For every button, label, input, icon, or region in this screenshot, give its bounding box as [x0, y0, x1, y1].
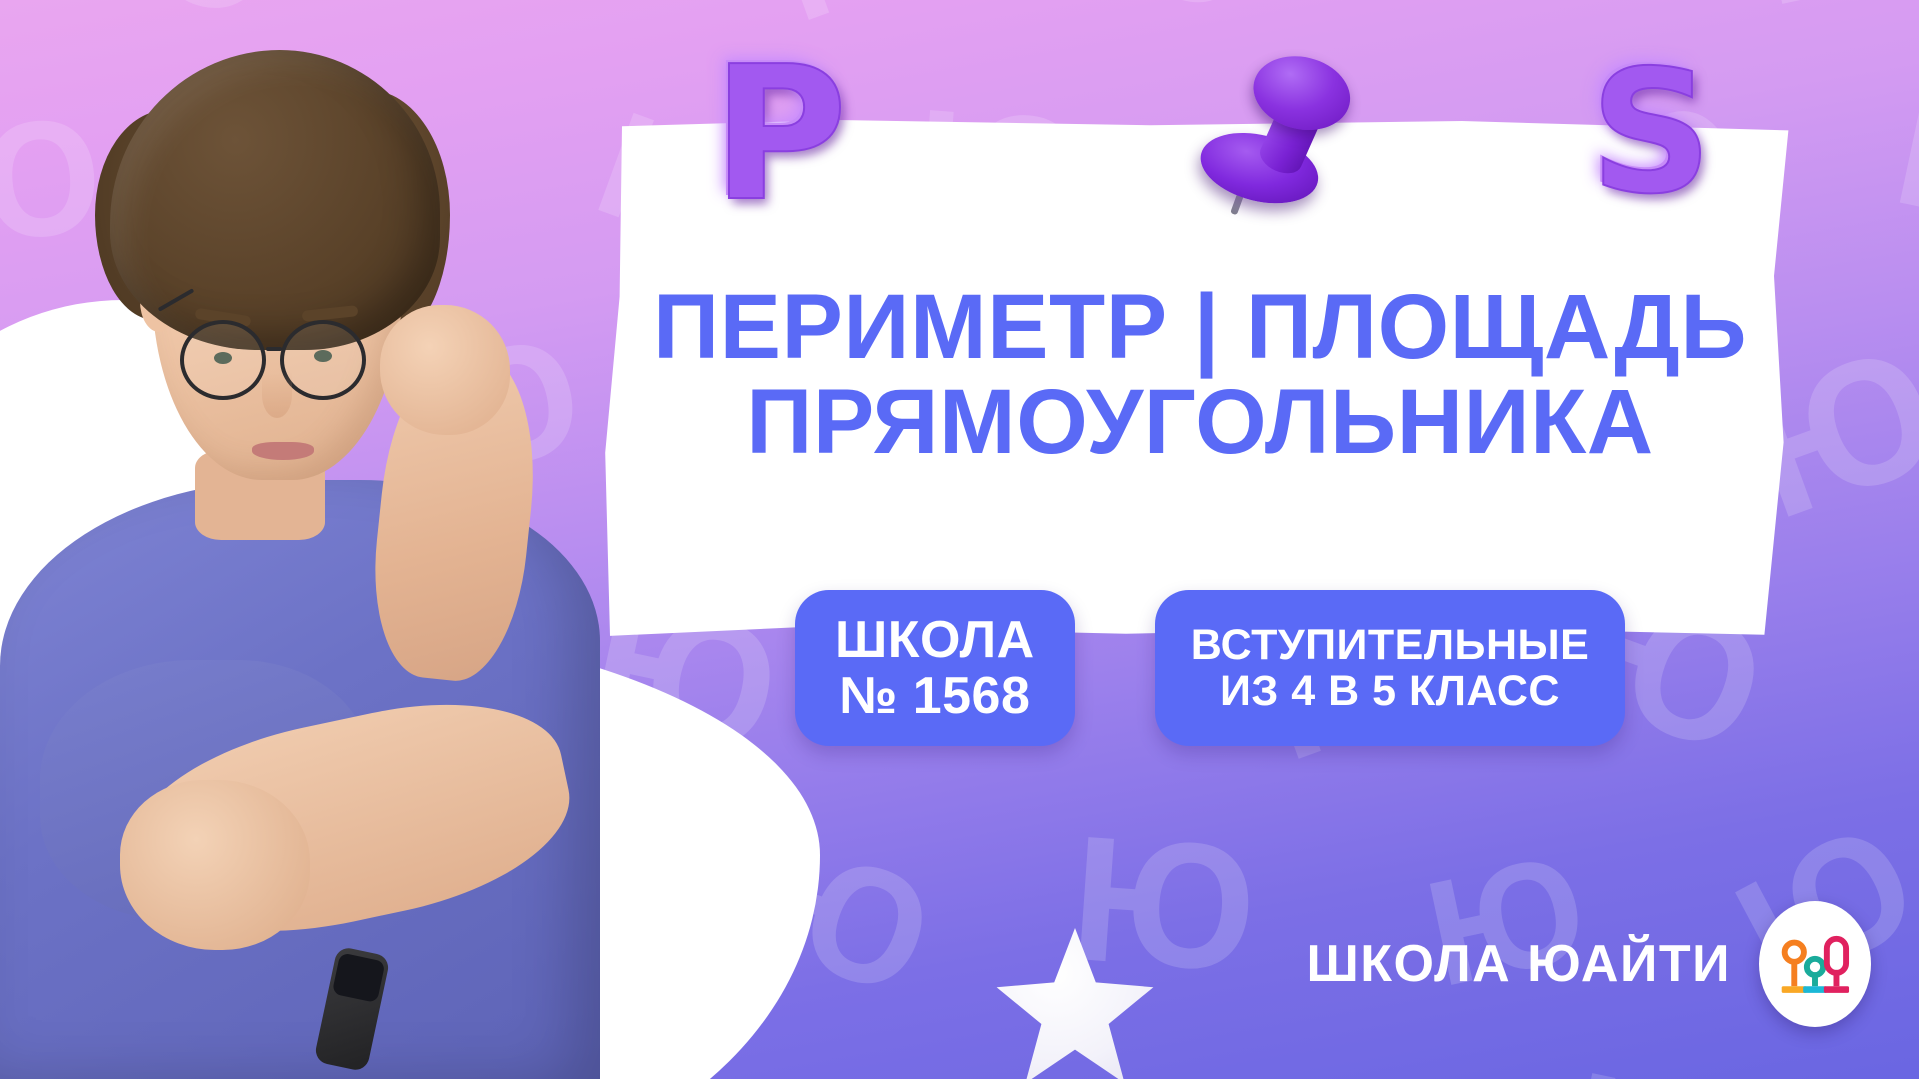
letter-yu-watermark-glyph: Ю	[0, 1051, 116, 1079]
glasses-temple	[158, 288, 195, 311]
exam-badge-line-1: ВСТУПИТЕЛЬНЫЕ	[1191, 622, 1590, 668]
neck	[195, 450, 325, 540]
school-number-badge-line-2: № 1568	[835, 668, 1035, 724]
headline-title: ПЕРИМЕТР | ПЛОЩАДЬ ПРЯМОУГОЛЬНИКА	[610, 280, 1790, 470]
logo-glyph-icon	[1778, 927, 1852, 1001]
exam-badge[interactable]: ВСТУПИТЕЛЬНЫЕ ИЗ 4 В 5 КЛАСС	[1155, 590, 1626, 746]
uity-school-logo	[1759, 901, 1871, 1027]
letter-yu-watermark-glyph: Ю	[94, 0, 287, 26]
letter-yu-watermark-glyph: Ю	[398, 326, 591, 489]
letter-yu-watermark-glyph: Ю	[83, 836, 276, 991]
letter-yu-watermark-glyph: Ю	[1236, 1067, 1429, 1079]
letter-yu-watermark-glyph: Ю	[1072, 0, 1276, 26]
tshirt-sleeve	[40, 660, 370, 920]
thumbnail-canvas: ЮЮЮЮЮЮЮЮЮЮЮЮЮЮЮЮЮЮЮЮЮЮЮЮЮЮЮЮЮЮЮЮЮЮЮЮЮЮЮЮ…	[0, 0, 1919, 1079]
letter-yu-watermark-glyph: Ю	[0, 110, 105, 253]
fist	[380, 305, 510, 435]
school-number-badge[interactable]: ШКОЛА № 1568	[795, 590, 1075, 746]
letter-yu-watermark-glyph: Ю	[0, 582, 88, 732]
star-icon	[995, 928, 1155, 1079]
hair-left	[95, 110, 215, 320]
letter-yu-watermark-glyph: Ю	[226, 70, 447, 267]
eyebrow-right	[302, 305, 359, 322]
hair-top	[110, 50, 440, 350]
forearm	[114, 676, 586, 963]
glasses-lens-left	[180, 320, 266, 400]
mouth	[252, 442, 314, 460]
tshirt	[0, 480, 600, 1079]
letter-yu-watermark-glyph: Ю	[1887, 81, 1919, 244]
eyebrow-left	[194, 308, 251, 328]
badge-row: ШКОЛА № 1568 ВСТУПИТЕЛЬНЫЕ ИЗ 4 В 5 КЛАС…	[795, 590, 1625, 746]
letter-yu-watermark-glyph: Ю	[1556, 1062, 1749, 1079]
letter-yu-watermark-glyph: Ю	[1749, 0, 1919, 14]
smartwatch-face	[332, 952, 386, 1003]
letter-yu-watermark-glyph: Ю	[1398, 0, 1591, 1]
letter-yu-watermark-glyph: Ю	[1067, 827, 1260, 982]
brand-footer: ШКОЛА ЮАЙТИ	[1306, 901, 1871, 1027]
white-blob-lower-left	[0, 620, 820, 1079]
raised-arm	[363, 343, 547, 687]
hand	[120, 780, 310, 950]
hair-right	[310, 90, 450, 340]
letter-yu-watermark-glyph: Ю	[761, 0, 947, 31]
letter-yu-watermark-glyph: Ю	[430, 846, 616, 1012]
eye-left	[214, 352, 232, 364]
eye-right	[314, 350, 332, 362]
headline-line-2: ПРЯМОУГОЛЬНИКА	[610, 375, 1790, 470]
face	[152, 170, 402, 480]
school-number-badge-line-1: ШКОЛА	[835, 612, 1035, 668]
pushpin-head	[1246, 46, 1359, 140]
letter-yu-watermark-glyph: Ю	[259, 592, 470, 787]
letter-yu-watermark-glyph: Ю	[414, 0, 607, 10]
smartwatch	[313, 946, 390, 1073]
white-blob-upper-left	[0, 300, 300, 730]
exam-badge-line-2: ИЗ 4 В 5 КЛАСС	[1191, 668, 1590, 714]
ear	[140, 270, 178, 332]
brand-name: ШКОЛА ЮАЙТИ	[1306, 934, 1731, 994]
glasses-bridge	[266, 347, 282, 351]
letter-yu-watermark-glyph: Ю	[741, 826, 945, 1007]
headline-line-1: ПЕРИМЕТР | ПЛОЩАДЬ	[653, 276, 1747, 378]
nose	[262, 372, 292, 418]
letter-yu-watermark-glyph: Ю	[93, 355, 256, 485]
glasses-lens-right	[280, 320, 366, 400]
